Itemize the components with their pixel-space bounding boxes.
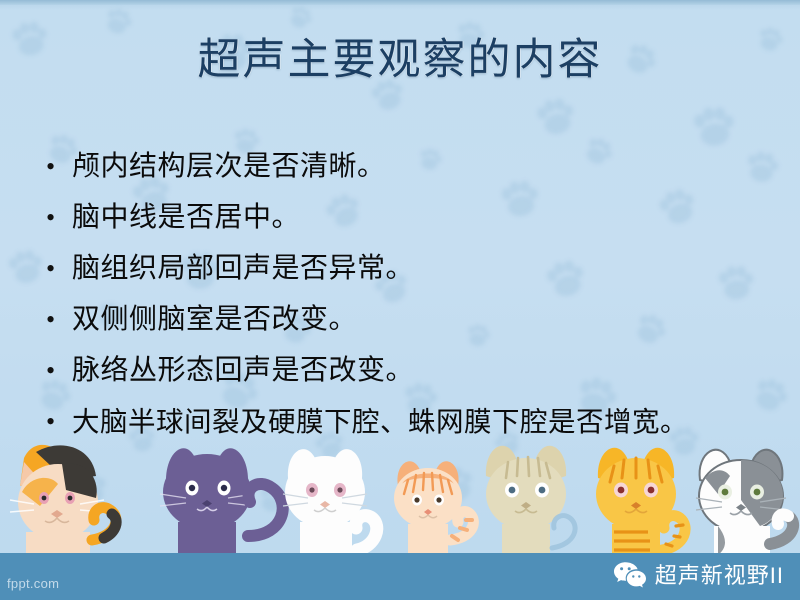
cats-decoration — [0, 440, 800, 555]
bullet-text: 脑组织局部回声是否异常。 — [72, 250, 414, 288]
bullet-text: 双侧侧脑室是否改变。 — [72, 301, 357, 339]
bottom-band: 超声新视野II fppt.com — [0, 553, 800, 600]
bullet-marker-icon: • — [42, 199, 72, 237]
white-cat — [283, 449, 377, 555]
purple-cat — [160, 448, 283, 555]
bullet-text: 颅内结构层次是否清晰。 — [72, 148, 386, 186]
list-item: • 脑中线是否居中。 — [42, 199, 772, 250]
slide-title: 超声主要观察的内容 — [0, 38, 800, 84]
cream-cat — [486, 446, 575, 555]
yellow-tabby-cat — [596, 448, 685, 555]
wechat-icon — [613, 561, 647, 591]
list-item: • 脉络丛形态回声是否改变。 — [42, 352, 772, 403]
fppt-watermark: fppt.com — [7, 576, 59, 591]
list-item: • 颅内结构层次是否清晰。 — [42, 148, 772, 199]
bullet-text: 大脑半球间裂及硬膜下腔、蛛网膜下腔是否增宽。 — [72, 403, 688, 441]
bullet-marker-icon: • — [42, 301, 72, 339]
grey-white-cat — [696, 450, 793, 555]
list-item: • 脑组织局部回声是否异常。 — [42, 250, 772, 301]
wechat-account-name: 超声新视野II — [655, 563, 784, 589]
bullet-text: 脑中线是否居中。 — [72, 199, 300, 237]
wechat-branding: 超声新视野II — [613, 561, 784, 591]
slide: 超声主要观察的内容 • 颅内结构层次是否清晰。 • 脑中线是否居中。 • 脑组织… — [0, 0, 800, 600]
bullet-marker-icon: • — [42, 250, 72, 288]
bullet-list: • 颅内结构层次是否清晰。 • 脑中线是否居中。 • 脑组织局部回声是否异常。 … — [42, 148, 772, 454]
orange-kitten — [394, 461, 473, 555]
calico-cat — [10, 445, 116, 555]
bullet-marker-icon: • — [42, 148, 72, 186]
list-item: • 双侧侧脑室是否改变。 — [42, 301, 772, 352]
bullet-text: 脉络丛形态回声是否改变。 — [72, 352, 414, 390]
bullet-marker-icon: • — [42, 403, 72, 441]
bullet-marker-icon: • — [42, 352, 72, 390]
